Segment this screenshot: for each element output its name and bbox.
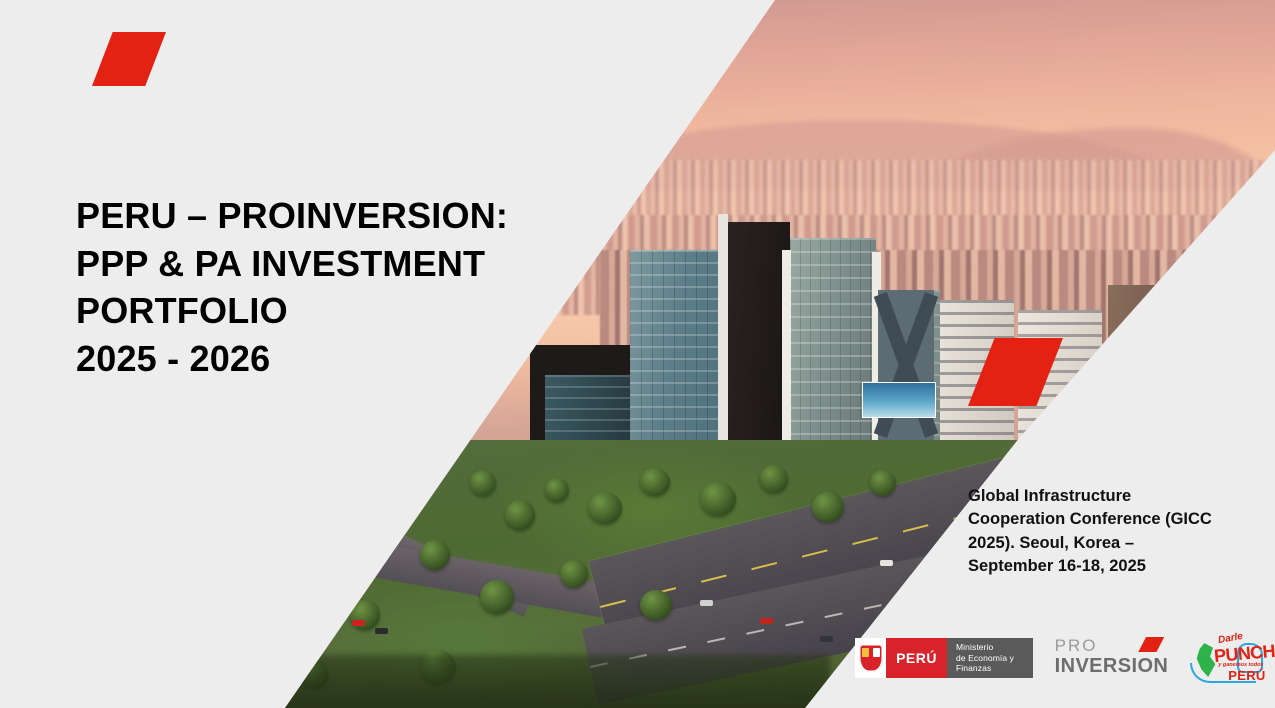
tree <box>760 465 788 493</box>
car <box>880 560 893 566</box>
car <box>760 618 773 624</box>
car <box>300 600 313 606</box>
tree <box>812 492 844 522</box>
mef-ministry-line1: Ministerio <box>956 642 1024 652</box>
proinversion-mark-icon <box>92 32 166 86</box>
tree <box>870 470 896 496</box>
mef-ministry-block: Ministerio de Economía y Finanzas <box>947 638 1033 678</box>
billboard <box>862 382 936 418</box>
tree <box>560 560 588 588</box>
tree <box>640 468 670 496</box>
proinversion-word-inversion: INVERSION <box>1055 656 1169 677</box>
car <box>352 620 365 626</box>
proinversion-logo: PRO INVERSION <box>1055 637 1169 679</box>
tree <box>480 580 514 614</box>
mef-logo: PERÚ Ministerio de Economía y Finanzas <box>855 638 1033 678</box>
conference-caption: Global Infrastructure Cooperation Confer… <box>968 485 1218 579</box>
tree <box>588 492 622 524</box>
foreground-shadow <box>230 655 830 708</box>
car <box>700 600 713 606</box>
car <box>820 636 833 642</box>
mef-country-label: PERÚ <box>886 638 947 678</box>
logo-row: PERÚ Ministerio de Economía y Finanzas P… <box>855 630 1265 686</box>
brown-building <box>1108 285 1164 435</box>
tree <box>640 590 672 620</box>
presentation-slide: PERU – PROINVERSION: PPP & PA INVESTMENT… <box>0 0 1275 708</box>
car <box>330 612 343 618</box>
tree <box>700 482 736 516</box>
tree <box>545 478 569 502</box>
punche-country-label: PERÚ <box>1228 668 1265 683</box>
mef-ministry-line2: de Economía y Finanzas <box>956 653 1024 674</box>
punche-peru-logo: Darle PUNCHE y ganemos todos PERÚ <box>1190 633 1265 683</box>
tree <box>505 500 535 530</box>
car <box>375 628 388 634</box>
tree <box>470 470 496 496</box>
tree <box>420 540 450 570</box>
peru-coat-of-arms-icon <box>855 638 886 678</box>
page-title: PERU – PROINVERSION: PPP & PA INVESTMENT… <box>76 192 636 382</box>
